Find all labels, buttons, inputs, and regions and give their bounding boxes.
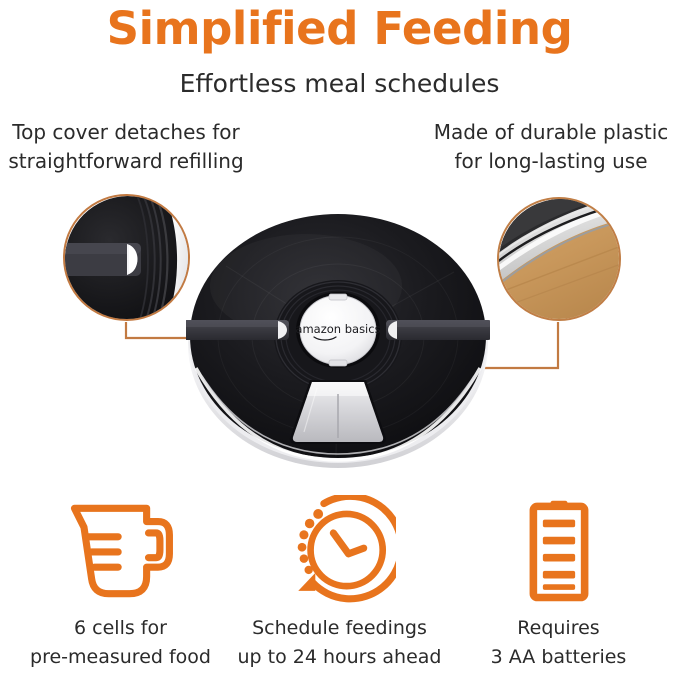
callout-left-text: Top cover detaches for straightforward r… [2,118,250,176]
magnifier-durable-plastic-art [499,199,621,321]
magnifier-top-cover [63,194,190,321]
measuring-cup-icon [65,492,177,610]
clock-schedule-glyph [284,495,396,607]
battery-glyph [503,495,615,607]
page-subtitle: Effortless meal schedules [0,68,679,100]
magnifier-durable-plastic [497,197,621,321]
brand-wordmark: amazon basics [295,322,380,336]
clock-schedule-icon [284,492,396,610]
feature-caption: Requires 3 AA batteries [491,614,627,672]
feature-caption: Schedule feedings up to 24 hours ahead [237,614,441,672]
pet-feeder-product: amazon basics [186,208,490,470]
feature-batteries: Requires 3 AA batteries [452,492,665,672]
feature-caption: 6 cells for pre-measured food [30,614,211,672]
callout-right-text: Made of durable plastic for long-lasting… [425,118,677,176]
pet-feeder-art: amazon basics [186,208,490,470]
magnifier-top-cover-art [65,196,190,321]
battery-icon [503,492,615,610]
feature-measuring-cup: 6 cells for pre-measured food [14,492,227,672]
measuring-cup-glyph [65,495,177,607]
infographic-stage: Simplified Feeding Effortless meal sched… [0,0,679,680]
page-title: Simplified Feeding [0,2,679,56]
feature-schedule: Schedule feedings up to 24 hours ahead [233,492,446,672]
feature-row: 6 cells for pre-measured food [0,492,679,680]
